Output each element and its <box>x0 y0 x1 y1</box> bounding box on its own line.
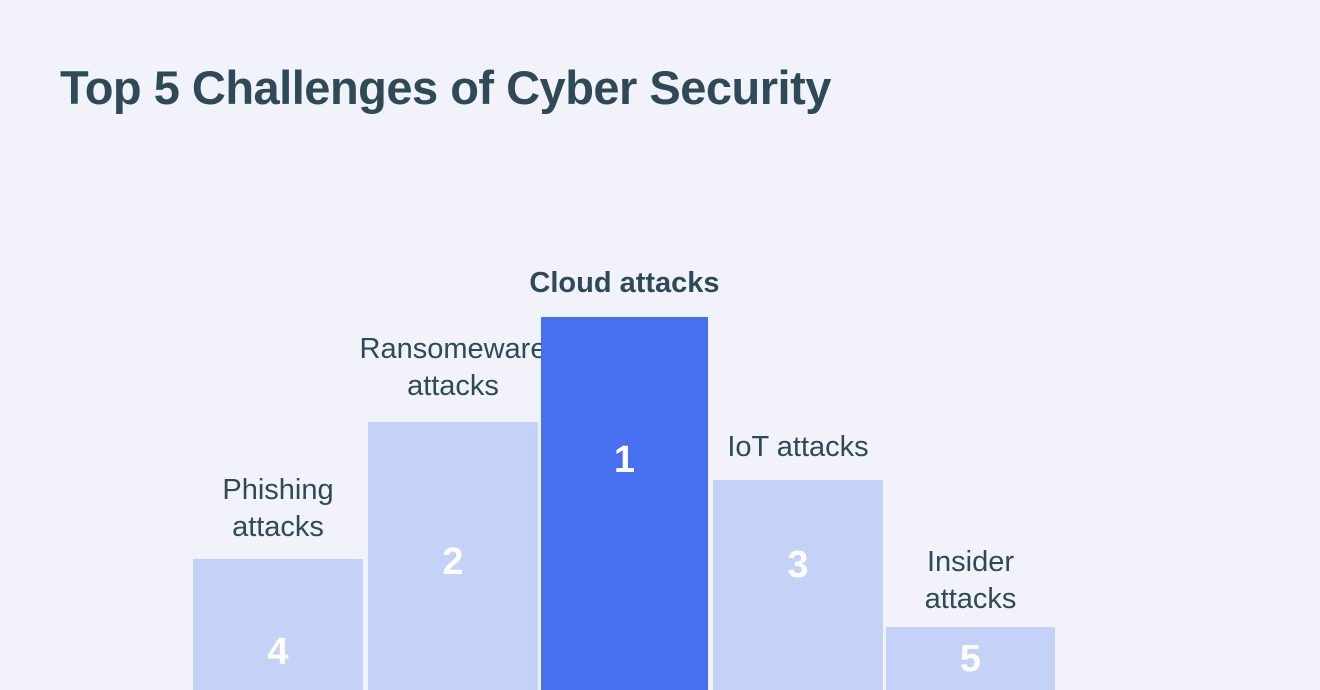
bar-label-ransomeware-attacks: Ransomeware attacks <box>342 331 564 405</box>
bar-rank-ransomeware-attacks: 2 <box>368 543 538 581</box>
bar-label-line: Cloud attacks <box>505 265 744 302</box>
bar-group-phishing-attacks[interactable]: Phishing attacks 4 <box>193 0 363 690</box>
bar-rank-insider-attacks: 5 <box>886 640 1055 678</box>
bar-label-insider-attacks: Insider attacks <box>860 544 1081 618</box>
bar-group-ransomeware-attacks[interactable]: Ransomeware attacks 2 <box>368 0 538 690</box>
bar-label-line: Phishing <box>167 472 389 509</box>
bar-label-phishing-attacks: Phishing attacks <box>167 472 389 546</box>
bar-label-line: IoT attacks <box>687 429 909 466</box>
bar-group-cloud-attacks[interactable]: Cloud attacks 1 <box>541 0 708 690</box>
bar-label-line: Insider <box>860 544 1081 581</box>
bar-rank-phishing-attacks: 4 <box>193 633 363 671</box>
bar-rect-cloud-attacks[interactable] <box>541 317 708 690</box>
bar-label-iot-attacks: IoT attacks <box>687 429 909 466</box>
bar-rank-cloud-attacks: 1 <box>541 441 708 479</box>
bar-group-iot-attacks[interactable]: IoT attacks 3 <box>713 0 883 690</box>
bar-rank-iot-attacks: 3 <box>713 546 883 584</box>
bar-label-line: attacks <box>860 581 1081 618</box>
bar-label-line: attacks <box>342 368 564 405</box>
bar-chart-plot-area: Phishing attacks 4 Ransomeware attacks 2… <box>0 0 1320 690</box>
bar-label-line: attacks <box>167 509 389 546</box>
bar-label-cloud-attacks: Cloud attacks <box>505 265 744 302</box>
bar-group-insider-attacks[interactable]: Insider attacks 5 <box>886 0 1055 690</box>
bar-label-line: Ransomeware <box>342 331 564 368</box>
infographic-canvas: Top 5 Challenges of Cyber Security Phish… <box>0 0 1320 690</box>
